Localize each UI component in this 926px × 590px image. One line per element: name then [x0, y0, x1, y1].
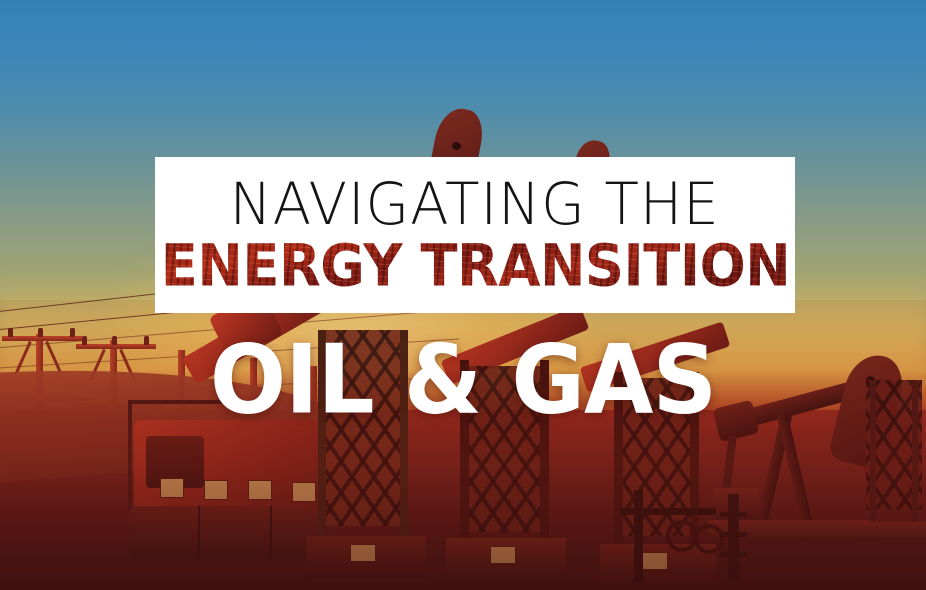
- wellhead-flange: [720, 512, 747, 517]
- wellhead-assembly: [620, 490, 760, 590]
- equipment-plate: [160, 478, 184, 498]
- subject-headline: OIL & GAS: [0, 332, 926, 427]
- equipment-plate: [490, 546, 516, 564]
- wellhead-pipe: [620, 508, 716, 515]
- pier-seam: [198, 506, 200, 560]
- poster: NAVIGATING THE ENERGY TRANSITION OIL & G…: [0, 0, 926, 590]
- equipment-plate: [350, 544, 376, 562]
- wellhead-flange: [720, 532, 747, 537]
- equipment-plate: [204, 480, 228, 500]
- valve-wheel: [694, 524, 724, 554]
- wellhead-riser: [634, 490, 643, 582]
- title-line-navigating: NAVIGATING THE: [230, 175, 720, 233]
- wellhead-stack: [728, 494, 739, 582]
- title-card: NAVIGATING THE ENERGY TRANSITION: [155, 157, 795, 313]
- title-line-energy-transition: ENERGY TRANSITION: [160, 238, 790, 296]
- equipment-plate: [248, 480, 272, 500]
- pier-seam: [270, 506, 272, 560]
- wellhead-flange: [720, 552, 747, 557]
- derrick-base: [862, 522, 926, 540]
